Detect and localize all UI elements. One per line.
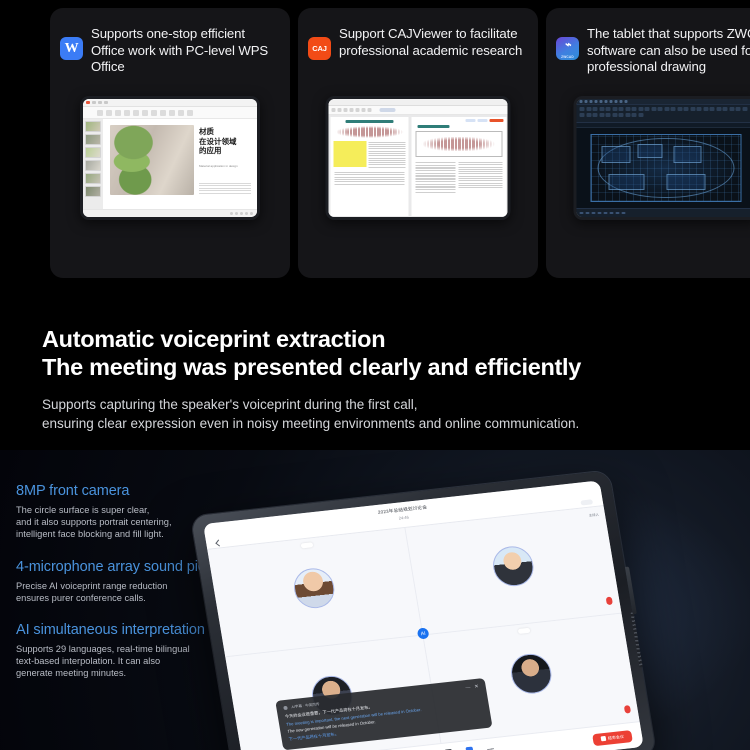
tile-chip <box>301 542 314 548</box>
end-call-label: 结束会议 <box>607 733 624 741</box>
participant-tile[interactable] <box>207 528 423 657</box>
caption-status-dot <box>283 706 288 710</box>
mic-muted-icon <box>606 597 613 606</box>
slide-title-text: 材质 在设计领域 的应用 Material application in des… <box>199 127 251 176</box>
zwcad-icon: ⌁ ZWCAD <box>556 37 579 60</box>
cad-window <box>577 99 750 217</box>
more-button[interactable]: 更多 <box>484 744 498 750</box>
tile-chip <box>517 628 530 634</box>
participant-tag: 主持人 <box>588 512 599 518</box>
zwcad-floorplan-screenshot <box>574 96 750 220</box>
headline-line-2: The meeting was presented clearly and ef… <box>42 353 732 381</box>
captions-button[interactable]: 字幕 <box>463 747 477 750</box>
card-header: CAJ Support CAJViewer to facilitate prof… <box>298 8 538 60</box>
zwcad-icon-label: ZWCAD <box>556 55 579 59</box>
participant-tile[interactable]: 主持人 <box>405 506 621 635</box>
hero-section: 8MP front camera The circle surface is s… <box>0 450 750 750</box>
wps-office-slide-screenshot: 材质 在设计领域 的应用 Material application in des… <box>80 96 260 220</box>
cajviewer-document-screenshot <box>326 96 511 220</box>
caj-titlebar <box>329 99 508 106</box>
minimize-icon[interactable]: — <box>465 685 471 691</box>
card-header: W Supports one-stop efficient Office wor… <box>50 8 290 76</box>
mic-muted-icon <box>624 705 631 714</box>
feature-card-zwcad[interactable]: ⌁ ZWCAD The tablet that supports ZWCAD s… <box>546 8 750 278</box>
card-header: ⌁ ZWCAD The tablet that supports ZWCAD s… <box>546 8 750 76</box>
caj-waveform-chart <box>416 131 502 157</box>
cajviewer-icon-glyph: CAJ <box>312 44 326 53</box>
wps-office-icon: W <box>60 37 83 60</box>
headline-block: Automatic voiceprint extraction The meet… <box>42 325 732 433</box>
subheadline-line-2: ensuring clear expression even in noisy … <box>42 414 732 433</box>
cajviewer-icon: CAJ <box>308 37 331 60</box>
avatar <box>291 566 337 610</box>
speaker-grille <box>631 612 643 668</box>
cad-ribbon <box>577 105 750 123</box>
feature-card-cajviewer[interactable]: CAJ Support CAJViewer to facilitate prof… <box>298 8 538 278</box>
caption-panel-title: AI字幕 · 中英同传 <box>291 702 320 710</box>
avatar <box>508 652 554 696</box>
zwcad-icon-glyph: ⌁ <box>556 38 579 51</box>
tablet-device: 2023年总结规划讨论会 24:46 录制中 主持人 <box>191 469 669 750</box>
end-call-button[interactable]: 结束会议 <box>592 730 633 746</box>
caj-page-right <box>412 117 506 216</box>
subheadline: Supports capturing the speaker's voicepr… <box>42 395 732 433</box>
tablet-video-meeting-screen[interactable]: 2023年总结规划讨论会 24:46 录制中 主持人 <box>203 480 644 750</box>
cad-drawing-canvas <box>577 128 750 208</box>
avatar <box>490 544 536 588</box>
more-options-icon[interactable] <box>580 499 593 505</box>
slide-hero-image <box>110 125 194 195</box>
headline-line-1: Automatic voiceprint extraction <box>42 325 732 353</box>
close-icon[interactable]: ✕ <box>474 684 479 690</box>
wps-titlebar <box>83 99 257 107</box>
caj-toolbar <box>329 106 508 115</box>
phone-hangup-icon <box>601 736 607 741</box>
caj-action-buttons[interactable] <box>412 117 506 123</box>
spec-title: 8MP front camera <box>16 482 266 500</box>
wps-slide-thumbnails <box>83 119 103 211</box>
subheadline-line-1: Supports capturing the speaker's voicepr… <box>42 395 732 414</box>
feature-cards-strip: W Supports one-stop efficient Office wor… <box>0 0 750 292</box>
feature-card-title: Support CAJViewer to facilitate professi… <box>339 26 528 59</box>
feature-card-title: Supports one-stop efficient Office work … <box>91 26 280 76</box>
product-feature-page: W Supports one-stop efficient Office wor… <box>0 0 750 750</box>
slide-body-lines <box>199 183 251 196</box>
wps-office-icon-glyph: W <box>65 42 79 56</box>
caj-page-left <box>330 117 409 216</box>
feature-card-title: The tablet that supports ZWCAD software … <box>587 26 750 76</box>
feature-card-wps-office[interactable]: W Supports one-stop efficient Office wor… <box>50 8 290 278</box>
cad-statusbar <box>577 208 750 217</box>
wps-statusbar <box>83 209 257 217</box>
wps-slide-canvas: 材质 在设计领域 的应用 Material application in des… <box>103 119 257 211</box>
wps-ribbon <box>83 107 257 119</box>
